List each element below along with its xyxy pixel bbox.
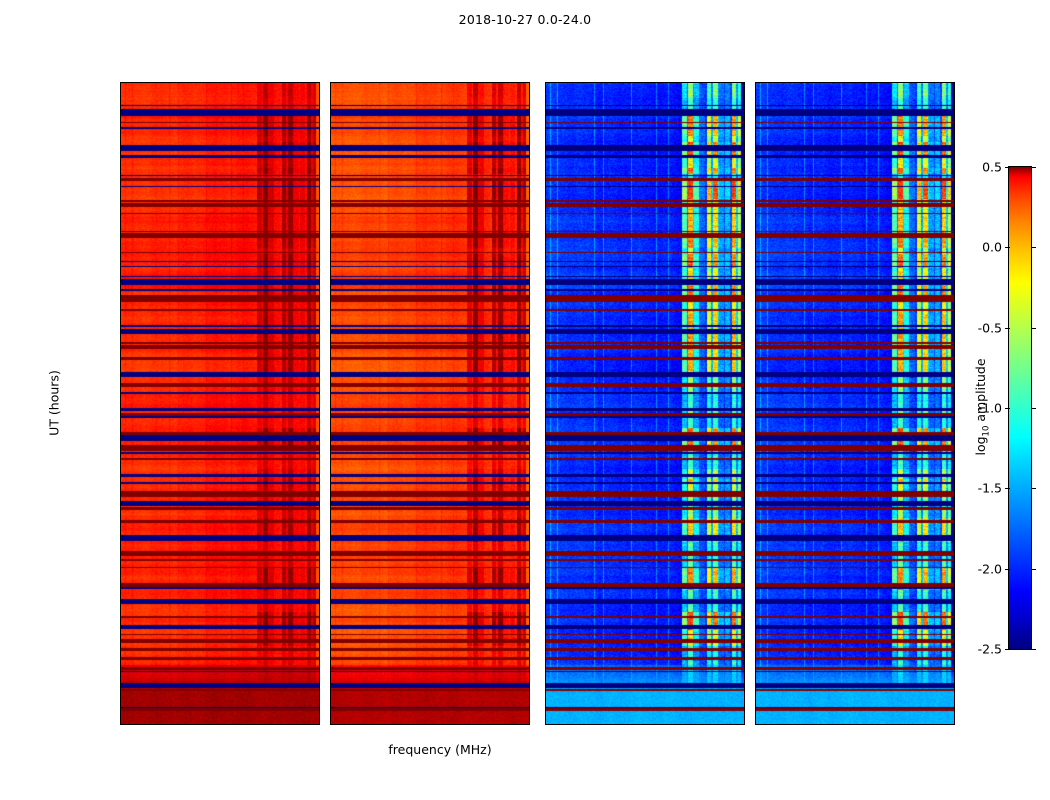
y-tick-mark bbox=[755, 457, 756, 458]
x-tick-mark bbox=[266, 724, 267, 725]
panel-yx[interactable]: YX, V3=EA01 32033535036538005101520 bbox=[755, 82, 955, 725]
y-tick-mark bbox=[330, 323, 331, 324]
colorbar-tick-label: -1.5 bbox=[978, 481, 1002, 496]
x-tick-mark bbox=[220, 724, 221, 725]
x-tick-mark bbox=[384, 724, 385, 725]
x-tick-mark bbox=[476, 724, 477, 725]
colorbar-tick-mark bbox=[1005, 247, 1010, 248]
y-tick-mark bbox=[545, 724, 546, 725]
y-axis-label: UT (hours) bbox=[47, 370, 62, 436]
y-tick-mark bbox=[120, 590, 121, 591]
y-tick-mark bbox=[545, 190, 546, 191]
colorbar-tick-mark bbox=[1031, 569, 1036, 570]
x-tick-mark bbox=[855, 724, 856, 725]
x-tick-mark bbox=[948, 724, 949, 725]
x-axis-ticks: 320335350365380 bbox=[331, 724, 529, 725]
x-axis-ticks: 320335350365380 bbox=[546, 724, 744, 725]
y-tick-mark bbox=[120, 724, 121, 725]
y-tick-mark bbox=[120, 323, 121, 324]
panel-yy[interactable]: YY, V3=EA01 32033535036538005101520 bbox=[330, 82, 530, 725]
heatmap-xx[interactable] bbox=[121, 83, 319, 724]
figure-suptitle: 2018-10-27 0.0-24.0 bbox=[0, 12, 1050, 27]
y-tick-mark bbox=[120, 457, 121, 458]
x-tick-mark bbox=[127, 724, 128, 725]
colorbar[interactable]: 0.50.0-0.5-1.0-1.5-2.0-2.5 bbox=[1008, 166, 1032, 650]
x-tick-mark bbox=[809, 724, 810, 725]
x-tick-mark bbox=[738, 724, 739, 725]
colorbar-tick-mark bbox=[1031, 328, 1036, 329]
heatmap-yy[interactable] bbox=[331, 83, 529, 724]
x-tick-mark bbox=[552, 724, 553, 725]
colorbar-tick-mark bbox=[1005, 569, 1010, 570]
heatmap-yx[interactable] bbox=[756, 83, 954, 724]
colorbar-tick-label: -0.5 bbox=[978, 320, 1002, 335]
x-axis-label: frequency (MHz) bbox=[0, 742, 880, 757]
colorbar-tick-mark bbox=[1031, 488, 1036, 489]
y-tick-mark bbox=[330, 457, 331, 458]
y-tick-mark bbox=[545, 590, 546, 591]
y-tick-mark bbox=[755, 590, 756, 591]
colorbar-tick-mark bbox=[1031, 649, 1036, 650]
colorbar-tick-mark bbox=[1005, 488, 1010, 489]
x-tick-mark bbox=[523, 724, 524, 725]
colorbar-tick-mark bbox=[1005, 167, 1010, 168]
y-tick-mark bbox=[755, 190, 756, 191]
colorbar-tick-mark bbox=[1005, 649, 1010, 650]
x-axis-ticks: 320335350365380 bbox=[121, 724, 319, 725]
y-tick-mark bbox=[330, 590, 331, 591]
y-tick-mark bbox=[755, 724, 756, 725]
colorbar-label: log10 amplitude bbox=[973, 358, 992, 455]
colorbar-tick-mark bbox=[1031, 167, 1036, 168]
colorbar-tick-label: -2.0 bbox=[978, 561, 1002, 576]
y-tick-mark bbox=[755, 323, 756, 324]
x-tick-mark bbox=[762, 724, 763, 725]
figure-canvas: 2018-10-27 0.0-24.0 XX, V3=EA01 32033535… bbox=[0, 0, 1050, 800]
colorbar-tick-label: -2.5 bbox=[978, 642, 1002, 657]
x-axis-ticks: 320335350365380 bbox=[756, 724, 954, 725]
colorbar-tick-mark bbox=[1005, 408, 1010, 409]
x-tick-mark bbox=[599, 724, 600, 725]
x-tick-mark bbox=[174, 724, 175, 725]
panel-xy[interactable]: XY, V3=EA01 32033535036538005101520 bbox=[545, 82, 745, 725]
heatmap-xy[interactable] bbox=[546, 83, 744, 724]
y-tick-mark bbox=[545, 457, 546, 458]
x-tick-mark bbox=[430, 724, 431, 725]
y-tick-mark bbox=[545, 323, 546, 324]
colorbar-tick-mark bbox=[1031, 408, 1036, 409]
colorbar-tick-mark bbox=[1031, 247, 1036, 248]
x-tick-mark bbox=[691, 724, 692, 725]
colorbar-tick-label: 0.0 bbox=[982, 240, 1002, 255]
y-tick-mark bbox=[330, 190, 331, 191]
panel-xx[interactable]: XX, V3=EA01 32033535036538005101520 bbox=[120, 82, 320, 725]
colorbar-tick-mark bbox=[1005, 328, 1010, 329]
x-tick-mark bbox=[313, 724, 314, 725]
y-tick-mark bbox=[120, 190, 121, 191]
y-tick-mark bbox=[330, 724, 331, 725]
x-tick-mark bbox=[337, 724, 338, 725]
colorbar-tick-label: 0.5 bbox=[982, 160, 1002, 175]
x-tick-mark bbox=[645, 724, 646, 725]
colorbar-gradient bbox=[1009, 167, 1031, 649]
x-tick-mark bbox=[901, 724, 902, 725]
